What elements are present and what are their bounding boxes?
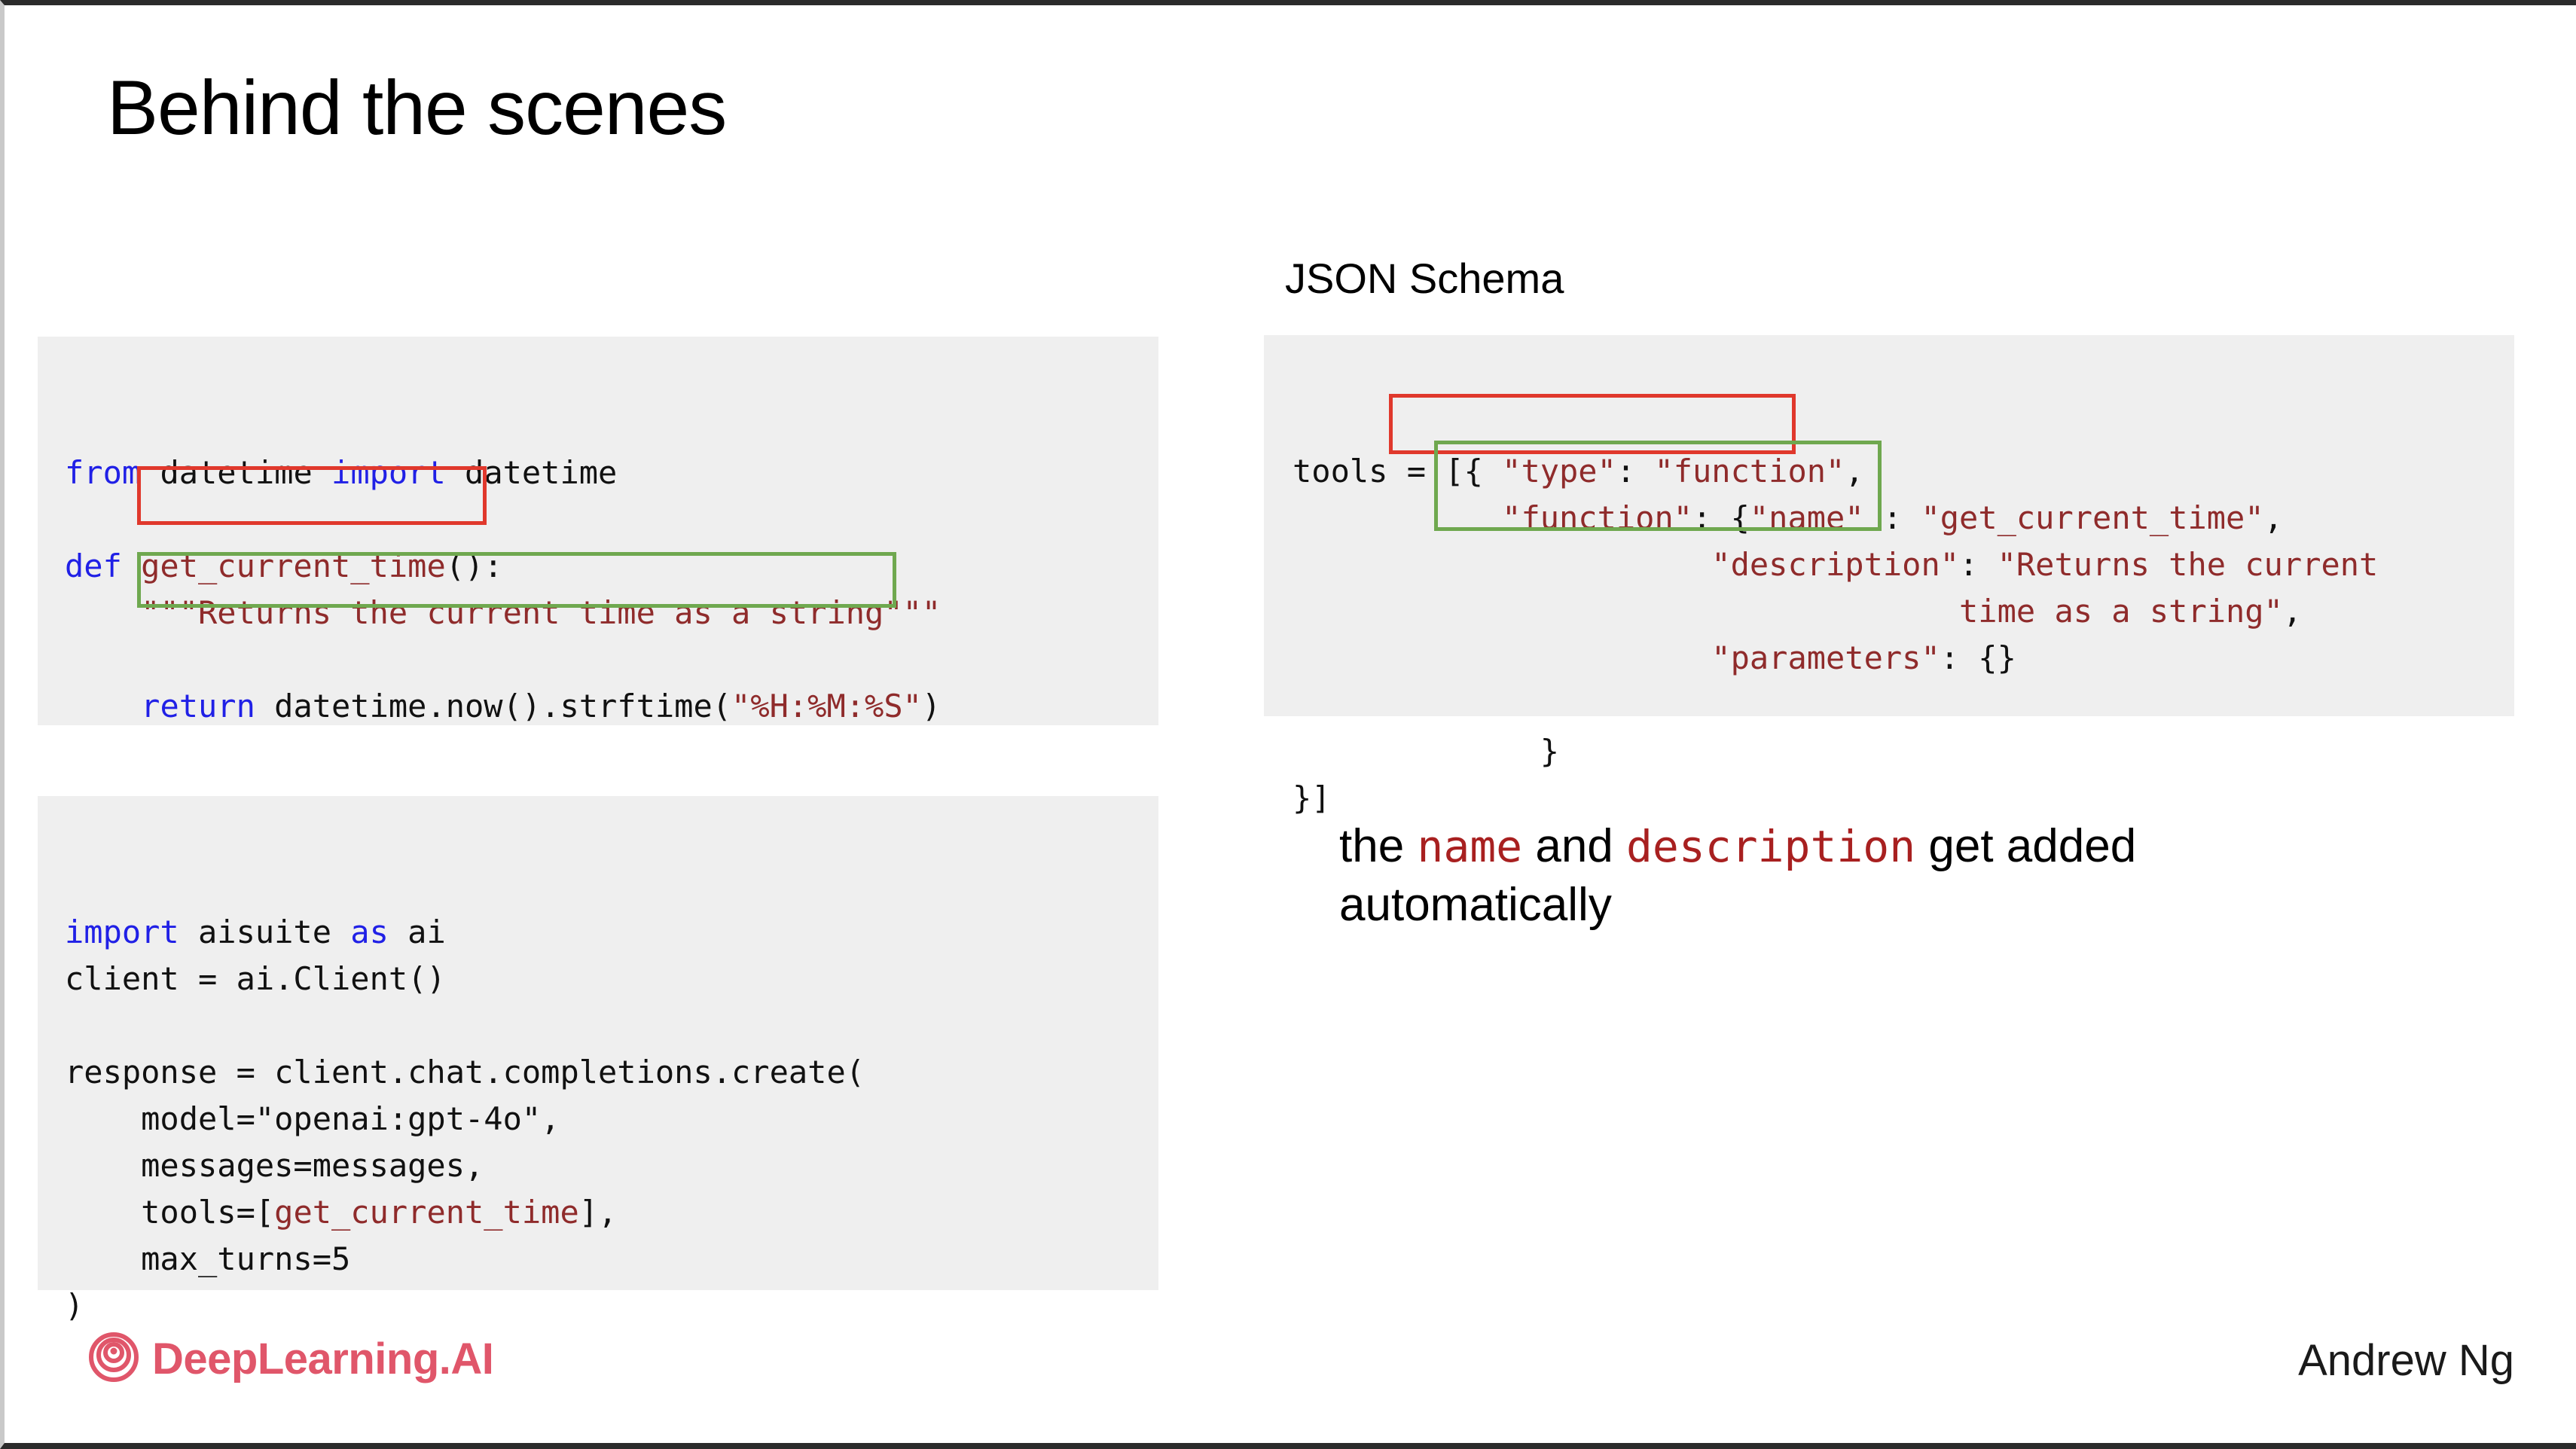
slide-canvas: Behind the scenes from datetime import d… (0, 0, 2576, 1449)
code-token: tools=[ (65, 1194, 274, 1231)
code-line (65, 636, 1158, 683)
code-token: import (65, 914, 179, 950)
code-line: max_turns=5 (65, 1236, 1158, 1283)
code-token: "type" (1502, 453, 1616, 490)
code-token: """Returns the current time as a string"… (141, 594, 941, 631)
code-token: "get_current_time" (1921, 499, 2263, 536)
code-token: return (141, 688, 255, 724)
code-lines-client: import aisuite as aiclient = ai.Client()… (65, 909, 1158, 1329)
code-line (65, 496, 1158, 543)
code-token: } (1293, 733, 1559, 770)
code-lines-function: from datetime import datetime def get_cu… (65, 450, 1158, 730)
code-token: max_turns=5 (65, 1240, 350, 1277)
code-token: "name" (1750, 499, 1864, 536)
deeplearning-spiral-logo-icon (89, 1332, 139, 1386)
code-token: datetime (446, 454, 618, 491)
code-line: def get_current_time(): (65, 543, 1158, 590)
code-line: "parameters": {} (1293, 635, 2514, 682)
code-token: ) (65, 1287, 84, 1324)
code-token: "parameters" (1711, 639, 1940, 676)
code-token (1293, 499, 1502, 536)
code-line: "function": {"name" : "get_current_time"… (1293, 495, 2514, 541)
code-lines-schema: tools = [{ "type": "function", "function… (1293, 448, 2514, 822)
code-line: return datetime.now().strftime("%H:%M:%S… (65, 683, 1158, 730)
code-token: , (2283, 593, 2302, 630)
annotation-segment-1: the (1339, 820, 1417, 872)
code-token (1293, 593, 1959, 630)
code-line: model="openai:gpt-4o", (65, 1096, 1158, 1142)
code-token: "function" (1654, 453, 1845, 490)
code-block-function-definition: from datetime import datetime def get_cu… (38, 337, 1158, 725)
code-token: : { (1692, 499, 1750, 536)
code-line (65, 1002, 1158, 1049)
code-token: : {} (1940, 639, 2016, 676)
author-label: Andrew Ng (2298, 1335, 2514, 1386)
code-token: datetime.now().strftime( (255, 688, 731, 724)
code-line: import aisuite as ai (65, 909, 1158, 956)
brand-logo: DeepLearning.AI (89, 1332, 493, 1386)
code-token: (): (446, 548, 503, 584)
code-line: client = ai.Client() (65, 956, 1158, 1002)
annotation-name-token: name (1417, 821, 1522, 872)
code-token: : (1616, 453, 1655, 490)
section-heading-json-schema: JSON Schema (1285, 254, 1564, 303)
code-block-client-usage: import aisuite as aiclient = ai.Client()… (38, 796, 1158, 1290)
annotation-segment-2: and (1522, 820, 1626, 872)
code-line: tools = [{ "type": "function", (1293, 448, 2514, 495)
code-token: messages=messages, (65, 1147, 484, 1184)
code-token: time as a string" (1959, 593, 2283, 630)
code-line: from datetime import datetime (65, 450, 1158, 496)
code-token: as (350, 914, 389, 950)
code-token: ai (389, 914, 446, 950)
code-token: , (1845, 453, 1863, 490)
code-line: """Returns the current time as a string"… (65, 590, 1158, 636)
code-block-json-schema: tools = [{ "type": "function", "function… (1264, 335, 2514, 716)
page-title: Behind the scenes (107, 64, 726, 152)
code-line: messages=messages, (65, 1142, 1158, 1189)
code-token: ], (579, 1194, 618, 1231)
code-token: tools = [{ (1293, 453, 1502, 490)
code-line: response = client.chat.completions.creat… (65, 1049, 1158, 1096)
code-token: datetime (141, 454, 331, 491)
code-line: }] (1293, 775, 2514, 822)
code-token: : (1959, 546, 1998, 583)
code-line: "description": "Returns the current (1293, 541, 2514, 588)
code-token: def (65, 548, 122, 584)
code-token: }] (1293, 779, 1331, 816)
annotation-description-token: description (1626, 821, 1915, 872)
code-token: get_current_time (274, 1194, 579, 1231)
code-token: : (1864, 499, 1921, 536)
code-token: , (2264, 499, 2283, 536)
code-token: response = client.chat.completions.creat… (65, 1054, 865, 1091)
code-token (1293, 546, 1711, 583)
code-token: import (331, 454, 446, 491)
code-token: model="openai:gpt-4o", (65, 1100, 560, 1137)
code-line: time as a string", (1293, 588, 2514, 635)
code-token (1293, 639, 1711, 676)
code-token: "%H:%M:%S" (731, 688, 922, 724)
code-line: tools=[get_current_time], (65, 1189, 1158, 1236)
code-token: "description" (1711, 546, 1959, 583)
code-token: ) (922, 688, 941, 724)
code-token: "Returns the current (1998, 546, 2379, 583)
code-token: get_current_time (122, 548, 446, 584)
code-line: } (1293, 728, 2514, 775)
annotation-auto-added: the name and description get added autom… (1339, 817, 2394, 935)
code-token (65, 594, 141, 631)
code-line: ) (65, 1283, 1158, 1329)
code-token: "function" (1502, 499, 1692, 536)
code-token: from (65, 454, 141, 491)
code-line (1293, 682, 2514, 728)
code-token: aisuite (179, 914, 351, 950)
code-token: client = ai.Client() (65, 960, 446, 997)
code-token (65, 688, 141, 724)
brand-name-label: DeepLearning.AI (152, 1334, 493, 1384)
